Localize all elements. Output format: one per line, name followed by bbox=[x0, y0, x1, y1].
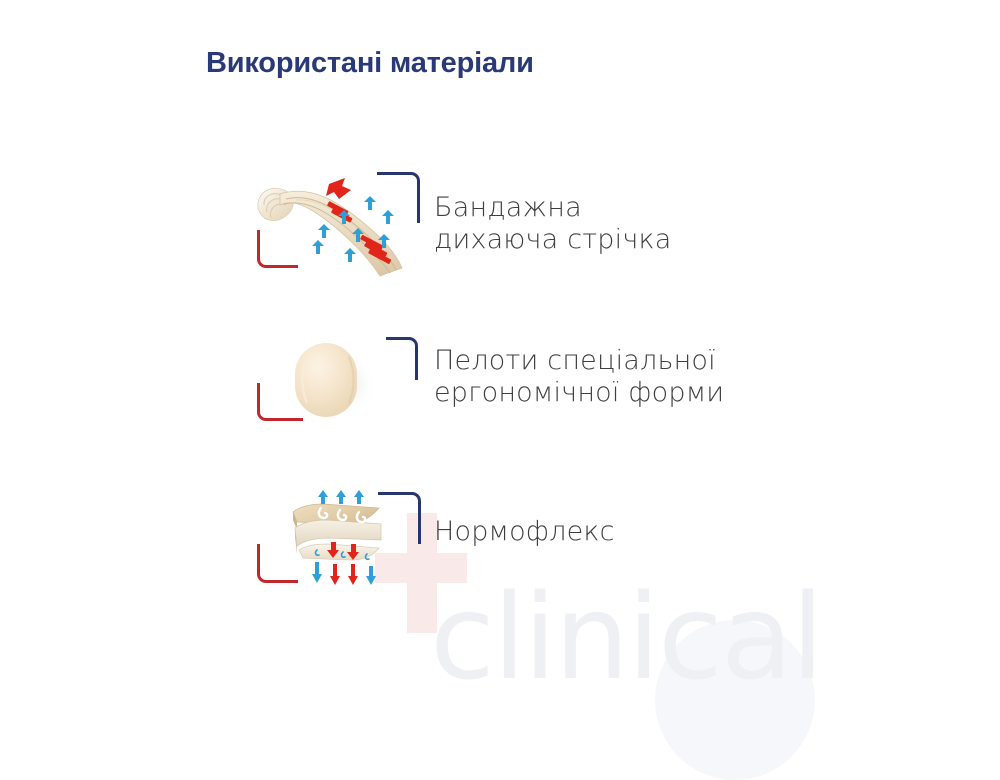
feature-label: Нормофлекс bbox=[434, 516, 615, 548]
watermark-brand-text: clinical bbox=[430, 578, 822, 696]
red-bracket bbox=[257, 383, 303, 421]
page-title: Використані матеріали bbox=[206, 47, 534, 80]
feature-label: Пелоти спеціальної ергономічної форми bbox=[434, 345, 724, 409]
navy-bracket bbox=[377, 172, 420, 223]
watermark-circle-decoration bbox=[655, 620, 815, 780]
feature-label: Бандажна дихаюча стрічка bbox=[434, 192, 671, 256]
navy-bracket bbox=[386, 337, 418, 380]
red-bracket bbox=[257, 544, 298, 583]
feature-row: Пелоти спеціальної ергономічної форми bbox=[0, 325, 1000, 435]
red-bracket bbox=[257, 230, 298, 268]
feature-row: Нормофлекс bbox=[0, 482, 1000, 592]
feature-row: Бандажна дихаюча стрічка bbox=[0, 160, 1000, 290]
navy-bracket bbox=[378, 492, 421, 544]
